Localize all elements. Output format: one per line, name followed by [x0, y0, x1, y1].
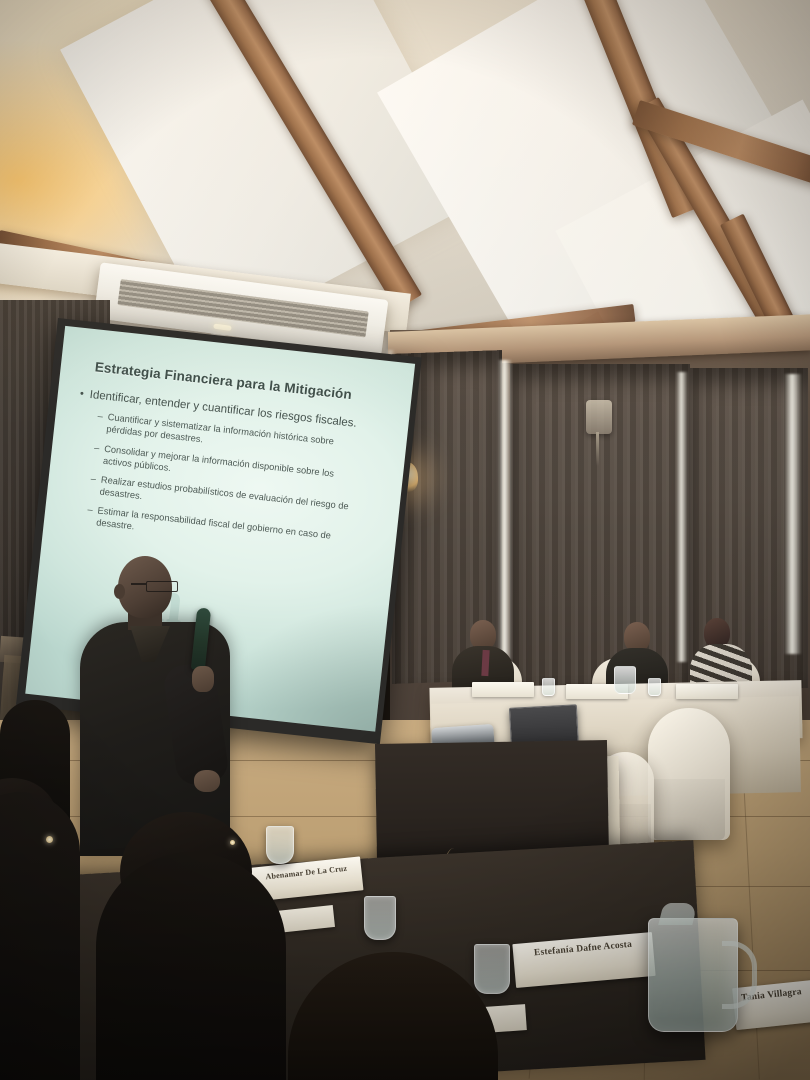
banquet-chair	[648, 708, 730, 840]
eyeglasses-icon	[146, 581, 178, 592]
drinking-glass	[474, 944, 510, 994]
sub-bullet-marker: –	[92, 441, 100, 466]
water-pitcher	[648, 918, 738, 1032]
daylight-gap	[676, 372, 688, 662]
presenter-speaker	[74, 556, 244, 856]
name-card-text: Estefanía Dafne Acosta	[513, 938, 653, 960]
conference-photo: m Estrategia Financiera para la Mitigaci…	[0, 0, 810, 1080]
earring	[230, 840, 235, 845]
drinking-glass	[266, 826, 294, 864]
ceiling-speaker-icon	[586, 400, 612, 434]
tech-table-cloth	[375, 740, 609, 864]
name-card-text: Abenamar De La Cruz	[251, 862, 361, 882]
panel-name-card	[676, 684, 738, 699]
daylight-gap	[498, 360, 512, 660]
drinking-glass	[648, 678, 661, 696]
panel-name-card	[472, 682, 534, 697]
daylight-gap	[784, 374, 802, 654]
sub-bullet-marker: –	[96, 410, 104, 435]
bullet-marker: •	[79, 387, 84, 402]
speaker-ear	[114, 584, 125, 599]
sub-bullet-marker: –	[89, 472, 97, 497]
ac-indicator-light	[213, 324, 231, 331]
drinking-glass	[542, 678, 555, 696]
speaker-hand	[192, 666, 214, 692]
audience-member	[0, 792, 80, 1080]
drinking-glass	[364, 896, 396, 940]
sub-bullet-marker: –	[86, 503, 94, 528]
speaker-hand	[194, 770, 220, 792]
earring	[46, 836, 53, 843]
water-pitcher	[614, 666, 636, 694]
audience-member	[96, 852, 286, 1080]
